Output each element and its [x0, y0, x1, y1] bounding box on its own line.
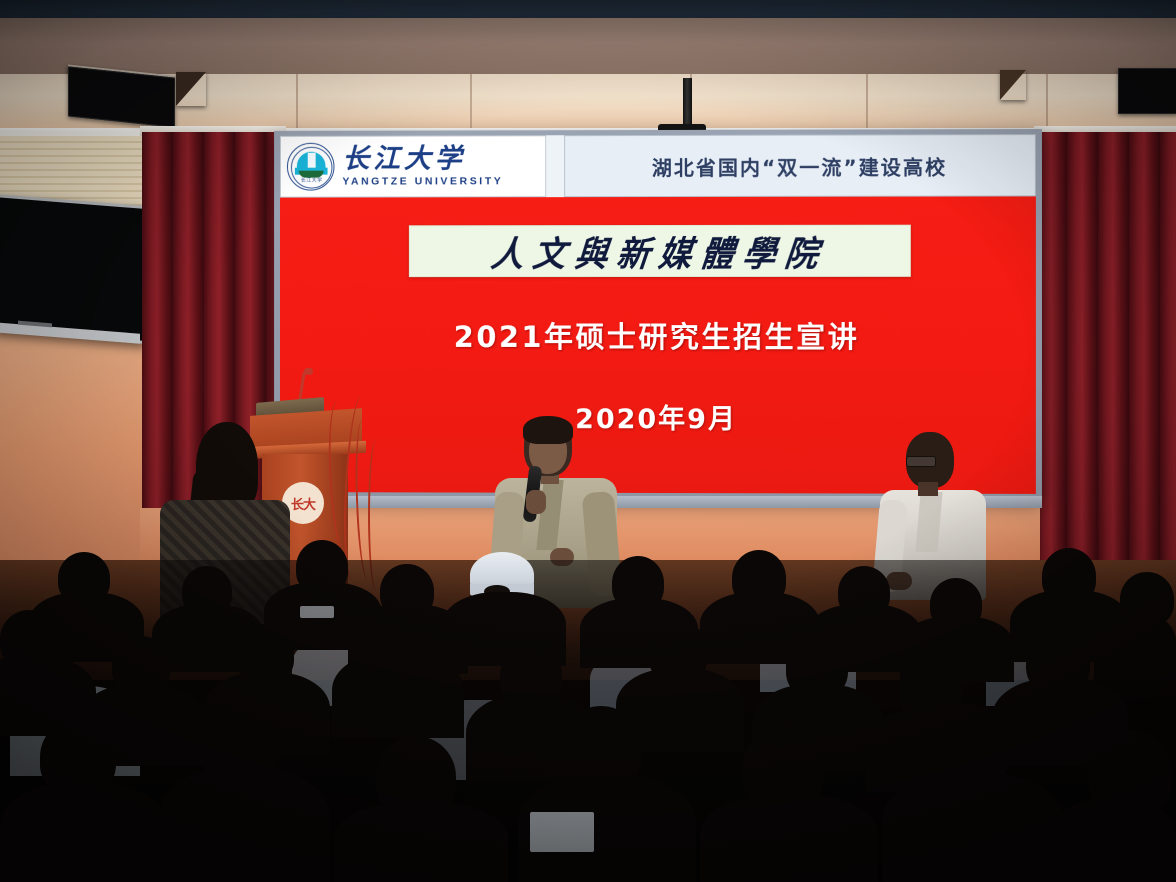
audience-shoulders: [1050, 798, 1176, 882]
slide-header-banner-text: 湖北省国内“双一流”建设高校: [652, 151, 947, 181]
audience-shoulders: [1094, 612, 1176, 680]
audience-shoulders: [158, 766, 330, 882]
slide-header-banner: 湖北省国内“双一流”建设高校: [564, 134, 1036, 197]
yangtze-university-emblem-icon: 长江大学: [287, 143, 335, 191]
university-name-en: YANGTZE UNIVERSITY: [342, 175, 503, 187]
ceiling-wedge-icon: [1000, 70, 1026, 100]
host-neck: [918, 482, 938, 496]
ceiling-speaker-icon: [1118, 68, 1176, 114]
auditorium-photo: 长江大学 长江大学 YANGTZE UNIVERSITY 湖北省国内“双一流”建…: [0, 0, 1176, 882]
stage-curtain-right: [1036, 132, 1176, 562]
slide-header: 长江大学 长江大学 YANGTZE UNIVERSITY 湖北省国内“双一流”建…: [280, 134, 1036, 198]
slide-date: 2020年9月: [280, 397, 1036, 437]
audience-shoulders: [882, 772, 1064, 882]
college-name-calligraphy: 人文與新媒體學院: [489, 225, 830, 276]
university-name-cn: 长江大学: [342, 145, 503, 172]
audience-shoulders: [0, 782, 168, 882]
emblem-tower: [308, 153, 316, 169]
ceiling-wedge-icon: [176, 72, 206, 106]
header-gap: [546, 135, 564, 197]
handout-paper: [300, 606, 334, 618]
audience-shoulders: [700, 794, 878, 882]
college-name-plaque: 人文與新媒體學院: [409, 225, 911, 277]
emblem-caption: 长江大学: [288, 177, 335, 184]
ceiling-seam: [470, 74, 472, 136]
ceiling-seam: [296, 74, 298, 136]
eyeglasses-icon: [906, 456, 936, 467]
podium-seal-text: 长大: [291, 494, 315, 513]
audience-shoulders: [334, 802, 508, 882]
speaker-left-hand: [526, 490, 546, 514]
gooseneck-microphone-head: [304, 368, 313, 375]
speaker-hair: [523, 416, 573, 444]
ceiling-seam: [866, 74, 868, 136]
slide-university-identity: 长江大学 长江大学 YANGTZE UNIVERSITY: [280, 135, 546, 197]
university-name-block: 长江大学 YANGTZE UNIVERSITY: [342, 145, 503, 187]
slide-subtitle: 2021年硕士研究生招生宣讲: [280, 314, 1036, 356]
audience-shoulders: [332, 652, 464, 738]
handout-paper: [530, 812, 594, 852]
